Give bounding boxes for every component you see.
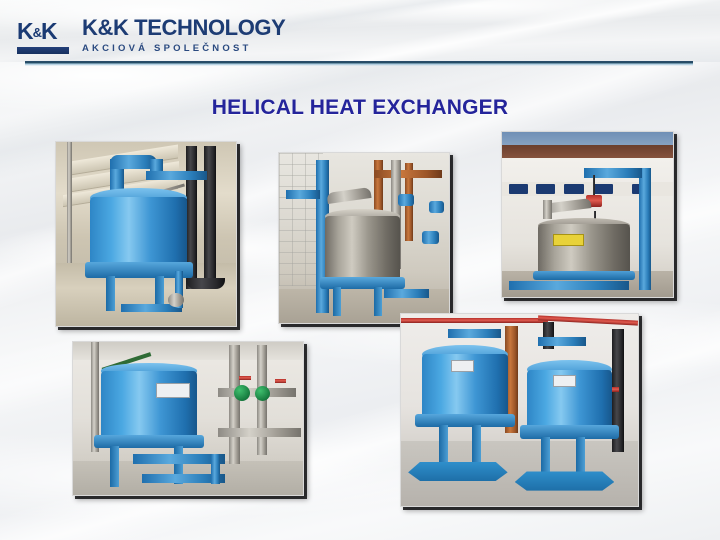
vessel-a-leg: [439, 425, 448, 467]
brand-name: K&K TECHNOLOGY: [82, 16, 285, 40]
vessel-body: [90, 197, 187, 265]
ceiling: [73, 342, 303, 360]
vessel-leg: [155, 276, 164, 307]
brand-block: K&K TECHNOLOGY AKCIOVÁ SPOLEČNOST: [82, 16, 285, 55]
base-pipework: [509, 281, 629, 290]
manifold-vertical: [229, 345, 240, 464]
gallery-photo-5: [400, 313, 639, 507]
vessel-a-inlet: [448, 329, 500, 338]
header-divider-glow: [25, 64, 693, 66]
photo-3-scene: [502, 132, 673, 297]
black-pipe-vertical: [204, 146, 216, 282]
vessel-bottom-flange: [533, 271, 636, 281]
logo-underline: [17, 47, 69, 54]
slide-canvas: K&K K&K TECHNOLOGY AKCIOVÁ SPOLEČNOST HE…: [0, 0, 720, 540]
brand-subtitle: AKCIOVÁ SPOLEČNOST: [82, 42, 285, 55]
vessel-b-plinth: [515, 471, 615, 490]
vessel-b-leg: [541, 437, 550, 475]
gallery-photo-3: [501, 131, 674, 298]
blue-branch: [286, 190, 320, 199]
gallery-photo-4: [72, 341, 304, 496]
vessel-body: [325, 216, 400, 281]
blue-valve: [398, 194, 414, 206]
slide-header: K&K K&K TECHNOLOGY AKCIOVÁ SPOLEČNOST: [0, 0, 720, 62]
kk-banner: [594, 184, 613, 194]
outlet-pipe: [384, 289, 428, 298]
photo-1-scene: [56, 142, 236, 326]
vessel-nameplate: [156, 383, 190, 397]
vessel-leg: [106, 276, 115, 311]
black-pipe-elbow: [186, 278, 226, 289]
vessel-inlet-riser: [543, 200, 552, 220]
vessel-nameplate: [553, 234, 584, 246]
valve-assembly: [168, 293, 184, 307]
gallery-photo-1: [55, 141, 237, 327]
blue-valve: [422, 231, 439, 244]
photo-4-scene: [73, 342, 303, 495]
kk-banner: [564, 184, 585, 194]
kk-banner: [509, 184, 528, 194]
logo-mark-text: K&K: [17, 20, 69, 44]
vessel-a-flange: [415, 414, 515, 427]
gallery-photo-2: [278, 152, 450, 324]
overhead-red-pipe: [401, 318, 548, 323]
vessel-b-inlet: [538, 337, 585, 346]
page-title: HELICAL HEAT EXCHANGER: [0, 96, 720, 120]
inlet-pipe-header: [146, 171, 207, 180]
red-valve-handle: [239, 376, 251, 380]
crane-mast: [639, 168, 651, 290]
vessel-b-flange: [520, 425, 620, 438]
vessel-body: [538, 224, 630, 274]
vessel-a-plinth: [408, 462, 508, 481]
circulation-pump: [255, 386, 270, 401]
vessel-b-leg: [576, 437, 585, 475]
outlet-riser: [211, 454, 220, 485]
manifold-horizontal: [218, 428, 301, 437]
red-valve-handle: [275, 379, 286, 383]
vessel-a-leg: [472, 425, 481, 467]
photo-2-scene: [279, 153, 449, 323]
copper-pipe-horizontal: [374, 170, 442, 178]
vessel-a-nameplate: [451, 360, 474, 372]
vessel-b-nameplate: [553, 375, 576, 387]
kk-logo-mark: K&K: [17, 20, 69, 54]
photo-5-scene: [401, 314, 638, 506]
vessel-leg: [374, 287, 382, 316]
vessel-leg: [333, 287, 341, 316]
vessel-body: [101, 371, 198, 438]
vessel-leg: [110, 446, 119, 487]
kk-banner: [536, 184, 555, 194]
circulation-pump: [234, 385, 250, 401]
blue-valve: [429, 201, 444, 213]
